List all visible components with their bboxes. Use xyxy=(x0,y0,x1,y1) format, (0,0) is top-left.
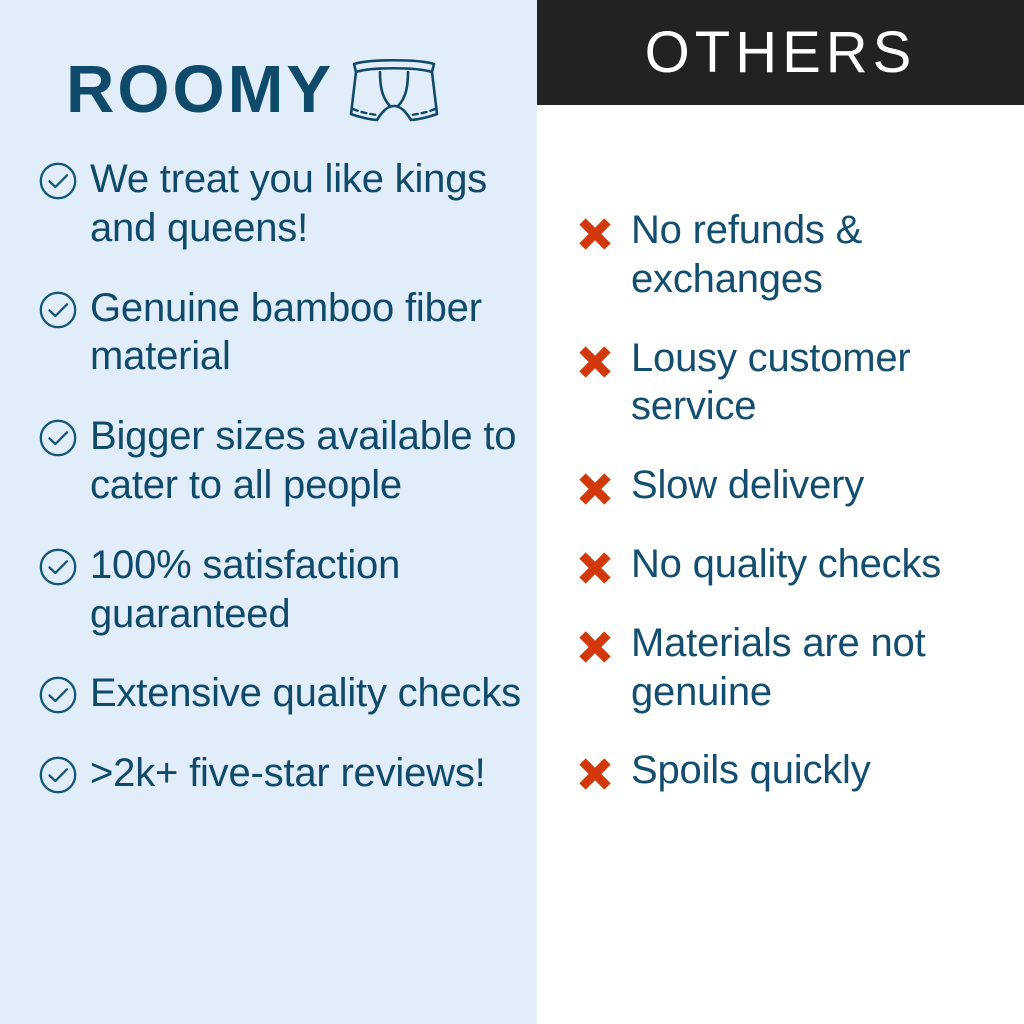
list-item-label: No quality checks xyxy=(631,540,941,589)
check-circle-icon xyxy=(38,418,78,458)
list-item-label: >2k+ five-star reviews! xyxy=(90,749,486,798)
brand-panel: ROOMY We treat yo xyxy=(0,0,537,1024)
cross-mark-icon xyxy=(575,469,615,509)
list-item: 100% satisfaction guaranteed xyxy=(38,541,528,639)
list-item-label: Bigger sizes available to cater to all p… xyxy=(90,412,528,510)
list-item: Materials are not genuine xyxy=(575,619,1015,717)
cross-mark-icon xyxy=(575,754,615,794)
others-title: OTHERS xyxy=(645,24,917,82)
others-header-bar: OTHERS xyxy=(537,0,1024,105)
list-item-label: We treat you like kings and queens! xyxy=(90,155,528,253)
check-circle-icon xyxy=(38,161,78,201)
list-item: Slow delivery xyxy=(575,461,1015,510)
list-item: Lousy customer service xyxy=(575,334,1015,432)
list-item: Bigger sizes available to cater to all p… xyxy=(38,412,528,510)
cross-mark-icon xyxy=(575,214,615,254)
list-item: No quality checks xyxy=(575,540,1015,589)
check-circle-icon xyxy=(38,547,78,587)
list-item: No refunds & exchanges xyxy=(575,206,1015,304)
cross-mark-icon xyxy=(575,342,615,382)
brand-logo: ROOMY xyxy=(66,48,440,130)
check-circle-icon xyxy=(38,290,78,330)
list-item-label: Lousy customer service xyxy=(631,334,1015,432)
cross-mark-icon xyxy=(575,548,615,588)
list-item: Genuine bamboo fiber material xyxy=(38,284,528,382)
list-item-label: No refunds & exchanges xyxy=(631,206,1015,304)
list-item-label: Extensive quality checks xyxy=(90,669,521,718)
list-item: We treat you like kings and queens! xyxy=(38,155,528,253)
list-item: >2k+ five-star reviews! xyxy=(38,749,528,798)
cross-mark-icon xyxy=(575,627,615,667)
others-panel: OTHERS No refunds & exchanges Lousy cust… xyxy=(537,0,1024,1024)
check-circle-icon xyxy=(38,675,78,715)
comparison-infographic: ROOMY We treat yo xyxy=(0,0,1024,1024)
pros-list: We treat you like kings and queens! Genu… xyxy=(38,155,528,829)
list-item-label: 100% satisfaction guaranteed xyxy=(90,541,528,639)
brand-name: ROOMY xyxy=(66,56,334,123)
boxer-briefs-icon xyxy=(348,56,440,130)
check-circle-icon xyxy=(38,755,78,795)
list-item-label: Genuine bamboo fiber material xyxy=(90,284,528,382)
list-item-label: Slow delivery xyxy=(631,461,864,510)
list-item-label: Materials are not genuine xyxy=(631,619,1015,717)
list-item: Spoils quickly xyxy=(575,746,1015,795)
list-item: Extensive quality checks xyxy=(38,669,528,718)
list-item-label: Spoils quickly xyxy=(631,746,871,795)
cons-list: No refunds & exchanges Lousy customer se… xyxy=(575,206,1015,825)
